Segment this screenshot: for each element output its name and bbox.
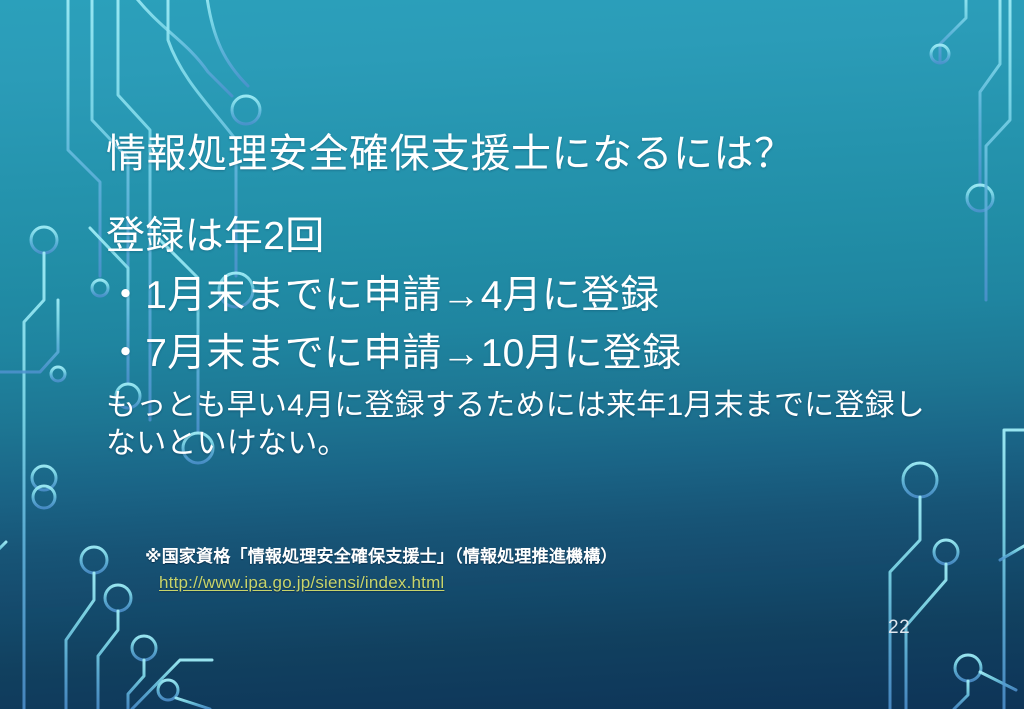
body-lead-line: 登録は年2回 — [106, 212, 946, 263]
bullet-item-1: ・1月末までに申請→4月に登録 — [106, 271, 946, 321]
body-note-paragraph: もっとも早い4月に登録するためには来年1月末までに登録しないといけない。 — [106, 387, 936, 464]
footnote-url-link[interactable]: http://www.ipa.go.jp/siensi/index.html — [159, 573, 444, 593]
bullet-item-2: ・7月末までに申請→10月に登録 — [106, 329, 946, 379]
page-number: 22 — [888, 617, 910, 639]
slide-canvas: 情報処理安全確保支援士になるには？ 登録は年2回 ・1月末までに申請→4月に登録… — [0, 0, 1024, 709]
page-title: 情報処理安全確保支援士になるには？ — [106, 130, 936, 179]
footnote-source-label: ※国家資格「情報処理安全確保支援士」（情報処理推進機構） — [145, 544, 845, 570]
footnote-block: ※国家資格「情報処理安全確保支援士」（情報処理推進機構） http://www.… — [145, 544, 845, 593]
slide-body: 登録は年2回 ・1月末までに申請→4月に登録 ・7月末までに申請→10月に登録 … — [106, 212, 946, 463]
